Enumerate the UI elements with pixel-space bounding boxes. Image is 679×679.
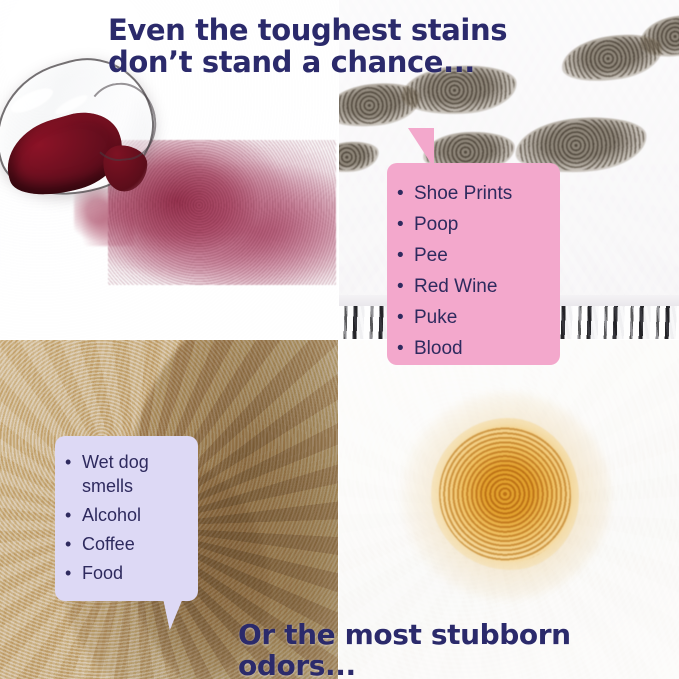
stains-list: Shoe Prints Poop Pee Red Wine Puke Blood [397,179,550,365]
list-item: Food [65,561,190,585]
list-item: Wet dog smells [65,450,190,498]
footline-text: Or the most stubborn odors... [238,620,679,679]
yellow-stain [431,418,579,570]
stains-callout-tail [399,128,434,168]
headline-text: Even the toughest stains don’t stand a c… [108,14,538,79]
odors-callout: Wet dog smells Alcohol Coffee Food [55,436,198,601]
stains-callout: Shoe Prints Poop Pee Red Wine Puke Blood [387,163,560,365]
promo-graphic: Even the toughest stains don’t stand a c… [0,0,679,679]
list-item: Coffee [65,532,190,556]
list-item: Pee [397,241,550,272]
list-item: Red Wine [397,272,550,303]
list-item: Alcohol [65,503,190,527]
odors-list: Wet dog smells Alcohol Coffee Food [65,450,190,586]
list-item: Poop [397,210,550,241]
list-item: Puke [397,303,550,334]
list-item: Shoe Prints [397,179,550,210]
list-item: Blood [397,334,550,365]
